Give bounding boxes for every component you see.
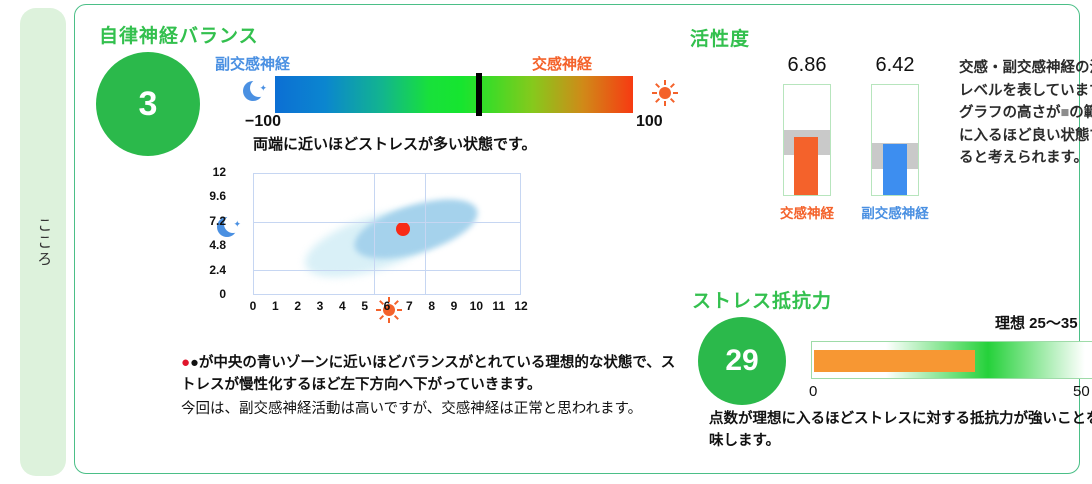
scatter-x-tick: 3 bbox=[311, 299, 329, 313]
scatter-y-tick: 2.4 bbox=[186, 263, 226, 277]
scatter-gridline-h bbox=[254, 270, 520, 271]
scatter-x-tick: 7 bbox=[400, 299, 418, 313]
scatter-y-tick: 12 bbox=[186, 165, 226, 179]
autonomic-balance-score-circle: 3 bbox=[96, 52, 200, 156]
stress-resistance-score-value: 29 bbox=[725, 344, 758, 378]
autonomic-balance-note: 両端に近いほどストレスが多い状態です。 bbox=[253, 133, 537, 154]
scatter-y-tick: 4.8 bbox=[186, 238, 226, 252]
scatter-plot-area bbox=[253, 173, 521, 295]
scatter-x-tick: 0 bbox=[244, 299, 262, 313]
activity-caption-sympathetic: 交感神経 bbox=[759, 202, 855, 222]
scatter-gridline-v bbox=[374, 174, 375, 294]
scatter-x-tick: 8 bbox=[423, 299, 441, 313]
stress-resistance-score-circle: 29 bbox=[698, 317, 786, 405]
stress-min-label: 0 bbox=[809, 383, 817, 400]
activity-bar-fill bbox=[883, 144, 907, 195]
parasympathetic-label: 副交感神経 bbox=[215, 53, 290, 74]
sun-icon bbox=[652, 80, 678, 106]
activity-value-parasympathetic: 6.42 bbox=[850, 54, 940, 77]
scatter-x-tick: 12 bbox=[512, 299, 530, 313]
activity-level-title: 活性度 bbox=[690, 24, 750, 51]
autonomic-balance-description: ●●が中央の青いゾーンに近いほどバランスがとれている理想的な状態で、ストレスが慢… bbox=[181, 351, 681, 420]
scatter-x-tick: 1 bbox=[266, 299, 284, 313]
scatter-gridline-h bbox=[254, 222, 520, 223]
scatter-x-tick: 2 bbox=[289, 299, 307, 313]
balance-desc-bold: ●が中央の青いゾーンに近いほどバランスがとれている理想的な状態で、ストレスが慢性… bbox=[181, 355, 675, 393]
scatter-x-tick: 11 bbox=[490, 299, 508, 313]
activity-bar-sympathetic bbox=[783, 84, 831, 196]
sidebar-tab-label: こころ bbox=[32, 217, 55, 268]
moon-icon: ✦ bbox=[243, 81, 267, 105]
activity-level-description: 交感・副交感神経の活性レベルを表しています。グラフの高さが■の範囲に入るほど良い… bbox=[959, 57, 1092, 170]
scatter-y-tick: 7.2 bbox=[186, 214, 226, 228]
stress-resistance-fill bbox=[814, 350, 975, 372]
autonomic-balance-title: 自律神経バランス bbox=[99, 21, 259, 48]
activity-value-sympathetic: 6.86 bbox=[762, 54, 852, 77]
autonomic-balance-marker bbox=[476, 73, 482, 116]
scatter-x-tick: 6 bbox=[378, 299, 396, 313]
stress-ideal-range-label: 理想 25〜35 bbox=[995, 312, 1078, 333]
autonomic-balance-min-label: −100 bbox=[245, 113, 281, 131]
scatter-y-tick: 9.6 bbox=[186, 189, 226, 203]
autonomic-balance-gradient-bar bbox=[275, 76, 633, 113]
autonomic-balance-max-label: 100 bbox=[636, 113, 663, 131]
stress-max-label: 50 bbox=[1073, 383, 1090, 400]
report-page: こころ 自律神経バランス 3 副交感神経 交感神経 ✦ −100 100 両端に… bbox=[0, 0, 1092, 484]
autonomic-balance-score-value: 3 bbox=[139, 85, 158, 124]
scatter-gridline-v bbox=[425, 174, 426, 294]
sympathetic-label: 交感神経 bbox=[532, 53, 592, 74]
scatter-x-tick: 4 bbox=[333, 299, 351, 313]
stress-resistance-title: ストレス抵抗力 bbox=[692, 286, 832, 313]
balance-desc-normal: 今回は、副交感神経活動は高いですが、交感神経は正常と思われます。 bbox=[181, 398, 681, 420]
scatter-x-tick: 5 bbox=[356, 299, 374, 313]
scatter-x-tick: 9 bbox=[445, 299, 463, 313]
activity-bar-parasympathetic bbox=[871, 84, 919, 196]
activity-bar-fill bbox=[794, 137, 818, 195]
sidebar-tab-kokoro[interactable]: こころ bbox=[20, 8, 66, 476]
balance-scatter-chart: ✦ 02.44.87.29.612 0123456789101112 bbox=[180, 165, 570, 315]
scatter-y-tick: 0 bbox=[186, 287, 226, 301]
activity-caption-parasympathetic: 副交感神経 bbox=[847, 202, 943, 222]
scatter-data-point bbox=[396, 222, 410, 236]
stress-resistance-description: 点数が理想に入るほどストレスに対する抵抗力が強いことを意味します。 bbox=[709, 408, 1092, 453]
scatter-x-tick: 10 bbox=[467, 299, 485, 313]
report-card: 自律神経バランス 3 副交感神経 交感神経 ✦ −100 100 両端に近いほど… bbox=[74, 4, 1080, 474]
stress-resistance-track bbox=[811, 341, 1092, 379]
activity-desc-square: ■ bbox=[1061, 105, 1070, 121]
